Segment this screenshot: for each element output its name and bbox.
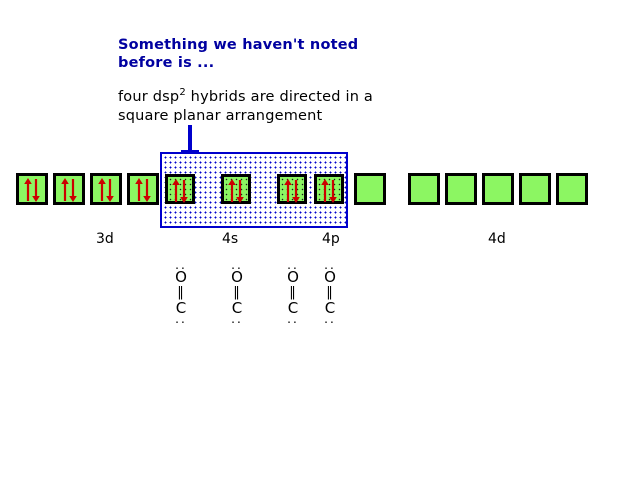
blue-annotation-text: Something we haven't noted before is ... bbox=[118, 36, 358, 72]
triple-bond-icon: ‖ bbox=[282, 285, 304, 300]
hybrid-description-part1: four dsp bbox=[118, 89, 179, 105]
subshell-label-4d: 4d bbox=[488, 231, 506, 247]
3d-orbital-3[interactable] bbox=[90, 173, 122, 205]
electron-pair-arrows-icon bbox=[224, 177, 248, 201]
oxygen-atom-label: O bbox=[282, 269, 304, 285]
subshell-label-3d: 3d bbox=[96, 231, 114, 247]
3d-orbital-2[interactable] bbox=[53, 173, 85, 205]
triple-bond-icon: ‖ bbox=[170, 285, 192, 300]
oxygen-atom-label: O bbox=[319, 269, 341, 285]
3d-orbital-1[interactable] bbox=[16, 173, 48, 205]
co-ligand-1: ..O‖C.. bbox=[170, 262, 192, 323]
electron-pair-arrows-icon bbox=[168, 177, 192, 201]
4d-orbital-4[interactable] bbox=[519, 173, 551, 205]
triple-bond-icon: ‖ bbox=[319, 285, 341, 300]
4d-orbital-5[interactable] bbox=[556, 173, 588, 205]
triple-bond-icon: ‖ bbox=[226, 285, 248, 300]
4s-orbital-1[interactable] bbox=[221, 174, 251, 204]
electron-pair-arrows-icon bbox=[317, 177, 341, 201]
electron-pair-arrows-icon bbox=[93, 176, 119, 202]
subshell-label-4s: 4s bbox=[222, 231, 238, 247]
4p-orbital-1[interactable] bbox=[277, 174, 307, 204]
3d-orbital-4[interactable] bbox=[127, 173, 159, 205]
carbon-lone-pair-dots: .. bbox=[170, 316, 192, 323]
hybrid-description-text: four dsp2 hybrids are directed in a squa… bbox=[118, 88, 373, 126]
4p-orbital-2[interactable] bbox=[314, 174, 344, 204]
carbon-lone-pair-dots: .. bbox=[282, 316, 304, 323]
oxygen-atom-label: O bbox=[170, 269, 192, 285]
electron-pair-arrows-icon bbox=[56, 176, 82, 202]
4d-orbital-1[interactable] bbox=[408, 173, 440, 205]
electron-pair-arrows-icon bbox=[19, 176, 45, 202]
co-ligand-2: ..O‖C.. bbox=[226, 262, 248, 323]
hybrid-description-line2: square planar arrangement bbox=[118, 107, 373, 126]
carbon-lone-pair-dots: .. bbox=[319, 316, 341, 323]
oxygen-atom-label: O bbox=[226, 269, 248, 285]
subshell-label-4p: 4p bbox=[322, 231, 340, 247]
4d-orbital-3[interactable] bbox=[482, 173, 514, 205]
carbon-lone-pair-dots: .. bbox=[226, 316, 248, 323]
electron-pair-arrows-icon bbox=[280, 177, 304, 201]
co-ligand-3: ..O‖C.. bbox=[282, 262, 304, 323]
hybrid-description-part2: hybrids are directed in a bbox=[186, 89, 373, 105]
3d-orbital-5[interactable] bbox=[165, 174, 195, 204]
4d-orbital-2[interactable] bbox=[445, 173, 477, 205]
4p-orbital-3[interactable] bbox=[354, 173, 386, 205]
co-ligand-4: ..O‖C.. bbox=[319, 262, 341, 323]
electron-pair-arrows-icon bbox=[130, 176, 156, 202]
